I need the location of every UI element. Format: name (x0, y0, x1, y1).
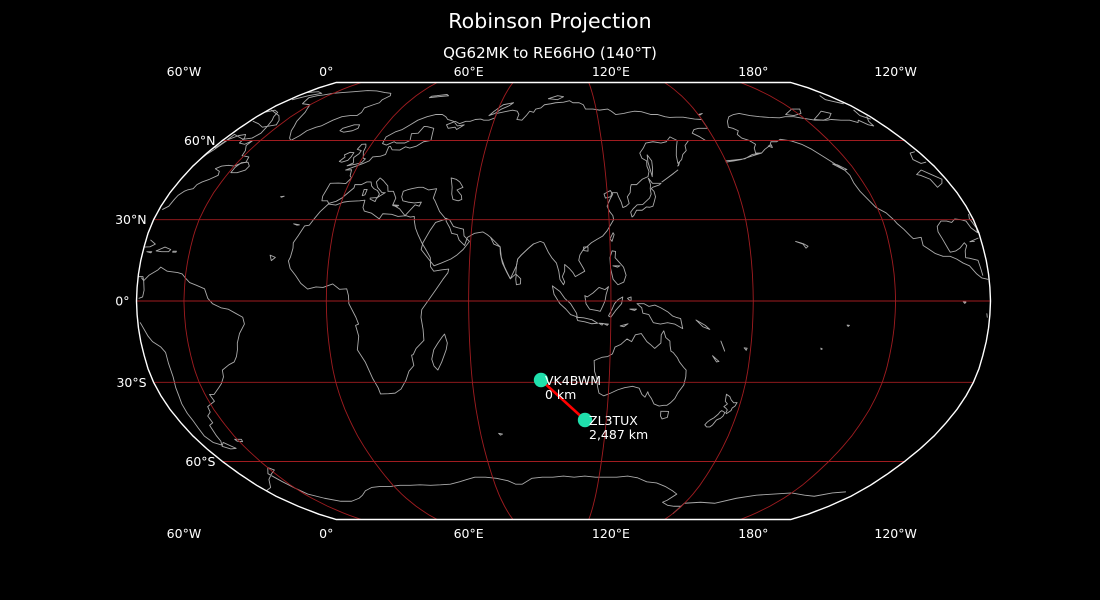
lon-tick-top-2: 120°E (592, 64, 630, 79)
station-callsign-zl3tux: ZL3TUX (589, 413, 638, 428)
lon-tick-bottom-0: 0° (319, 526, 333, 541)
lon-tick-top-3: 180° (738, 64, 768, 79)
lat-tick-3: 30°S (116, 375, 146, 390)
lon-tick-bottom-1: 60°E (454, 526, 484, 541)
lon-tick-top-0: 0° (319, 64, 333, 79)
robinson-map[interactable]: VK4BWM0 kmZL3TUX2,487 km 0°60°E120°E180°… (0, 0, 1100, 600)
coastline-crete (393, 205, 399, 206)
lon-tick-top-1: 60°E (454, 64, 484, 79)
lat-tick-1: 30°N (115, 212, 147, 227)
figure-canvas: Robinson Projection QG62MK to RE66HO (14… (0, 0, 1100, 600)
coastline-soc (821, 348, 823, 349)
lon-tick-top-5: 60°W (167, 64, 202, 79)
lon-tick-bottom-4: 120°W (874, 526, 916, 541)
station-callsign-vk4bwm: VK4BWM (545, 373, 601, 388)
lon-tick-bottom-2: 120°E (592, 526, 630, 541)
lat-tick-2: 0° (115, 294, 129, 309)
lon-tick-top-4: 120°W (874, 64, 916, 79)
station-distance-vk4bwm: 0 km (545, 387, 576, 402)
station-distance-zl3tux: 2,487 km (589, 427, 648, 442)
lat-tick-4: 60°S (185, 454, 215, 469)
lat-tick-0: 60°N (184, 133, 216, 148)
lon-tick-bottom-3: 180° (738, 526, 768, 541)
lon-tick-bottom-5: 60°W (167, 526, 202, 541)
